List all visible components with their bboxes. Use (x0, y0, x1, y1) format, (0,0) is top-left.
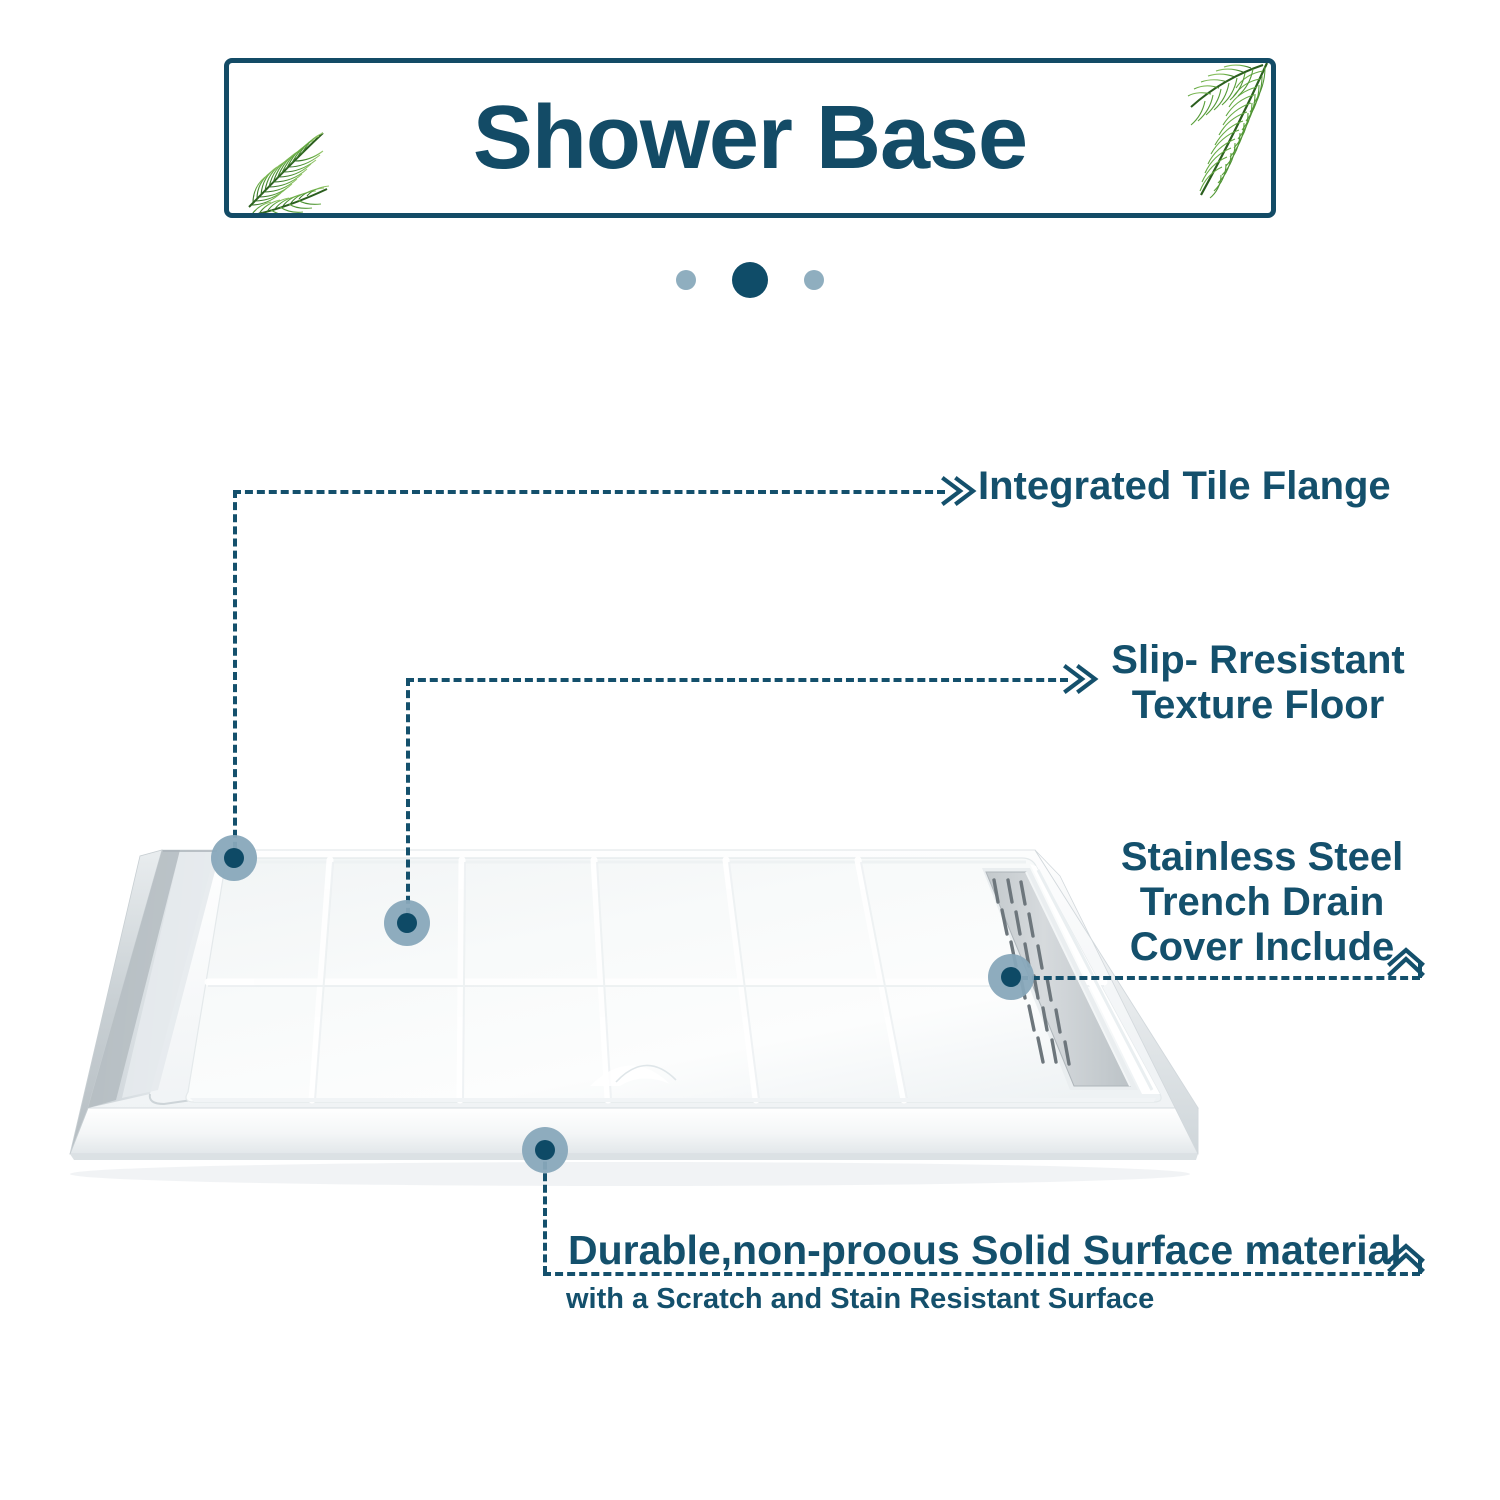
double-chevron-right-icon (1060, 662, 1100, 696)
base-front-bevel (70, 1154, 1198, 1160)
pagination-dot-1[interactable] (676, 270, 696, 290)
marker-core (397, 913, 417, 933)
marker-core (1001, 967, 1021, 987)
marker-core (224, 848, 244, 868)
callout-label-integrated-tile-flange: Integrated Tile Flange (978, 464, 1391, 509)
leader-vertical-segment (233, 490, 237, 862)
callout-label-durable-solid-surface: Durable,non-proous Solid Surface materia… (568, 1228, 1402, 1274)
callout-sublabel-durable-solid-surface: with a Scratch and Stain Resistant Surfa… (566, 1283, 1154, 1315)
callout-label-slip-resistant-texture-floor: Slip- Rresistant Texture Floor (1100, 638, 1416, 728)
callout-marker-stainless-steel-trench-drain[interactable] (988, 954, 1034, 1000)
page-title: Shower Base (229, 93, 1271, 183)
infographic-canvas: Shower Base (0, 0, 1500, 1500)
leader-horizontal-segment (406, 678, 1068, 682)
callout-label-stainless-steel-trench-drain: Stainless Steel Trench Drain Cover Inclu… (1112, 835, 1412, 969)
base-front-edge (70, 1108, 1198, 1154)
leader-vertical-segment (406, 678, 410, 928)
callout-marker-slip-resistant-texture-floor[interactable] (384, 900, 430, 946)
callout-marker-integrated-tile-flange[interactable] (211, 835, 257, 881)
marker-core (535, 1140, 555, 1160)
shower-base-illustration (30, 836, 1200, 1186)
callout-marker-durable-solid-surface[interactable] (522, 1127, 568, 1173)
leader-horizontal-segment (233, 490, 945, 494)
leader-horizontal-segment (1020, 976, 1420, 980)
basin-front-wall (190, 1098, 1156, 1102)
pagination-dot-3[interactable] (804, 270, 824, 290)
title-banner: Shower Base (224, 58, 1276, 218)
pagination-dots[interactable] (0, 262, 1500, 298)
pagination-dot-2-active[interactable] (732, 262, 768, 298)
double-chevron-right-icon (938, 474, 978, 508)
product-shadow (70, 1162, 1190, 1186)
